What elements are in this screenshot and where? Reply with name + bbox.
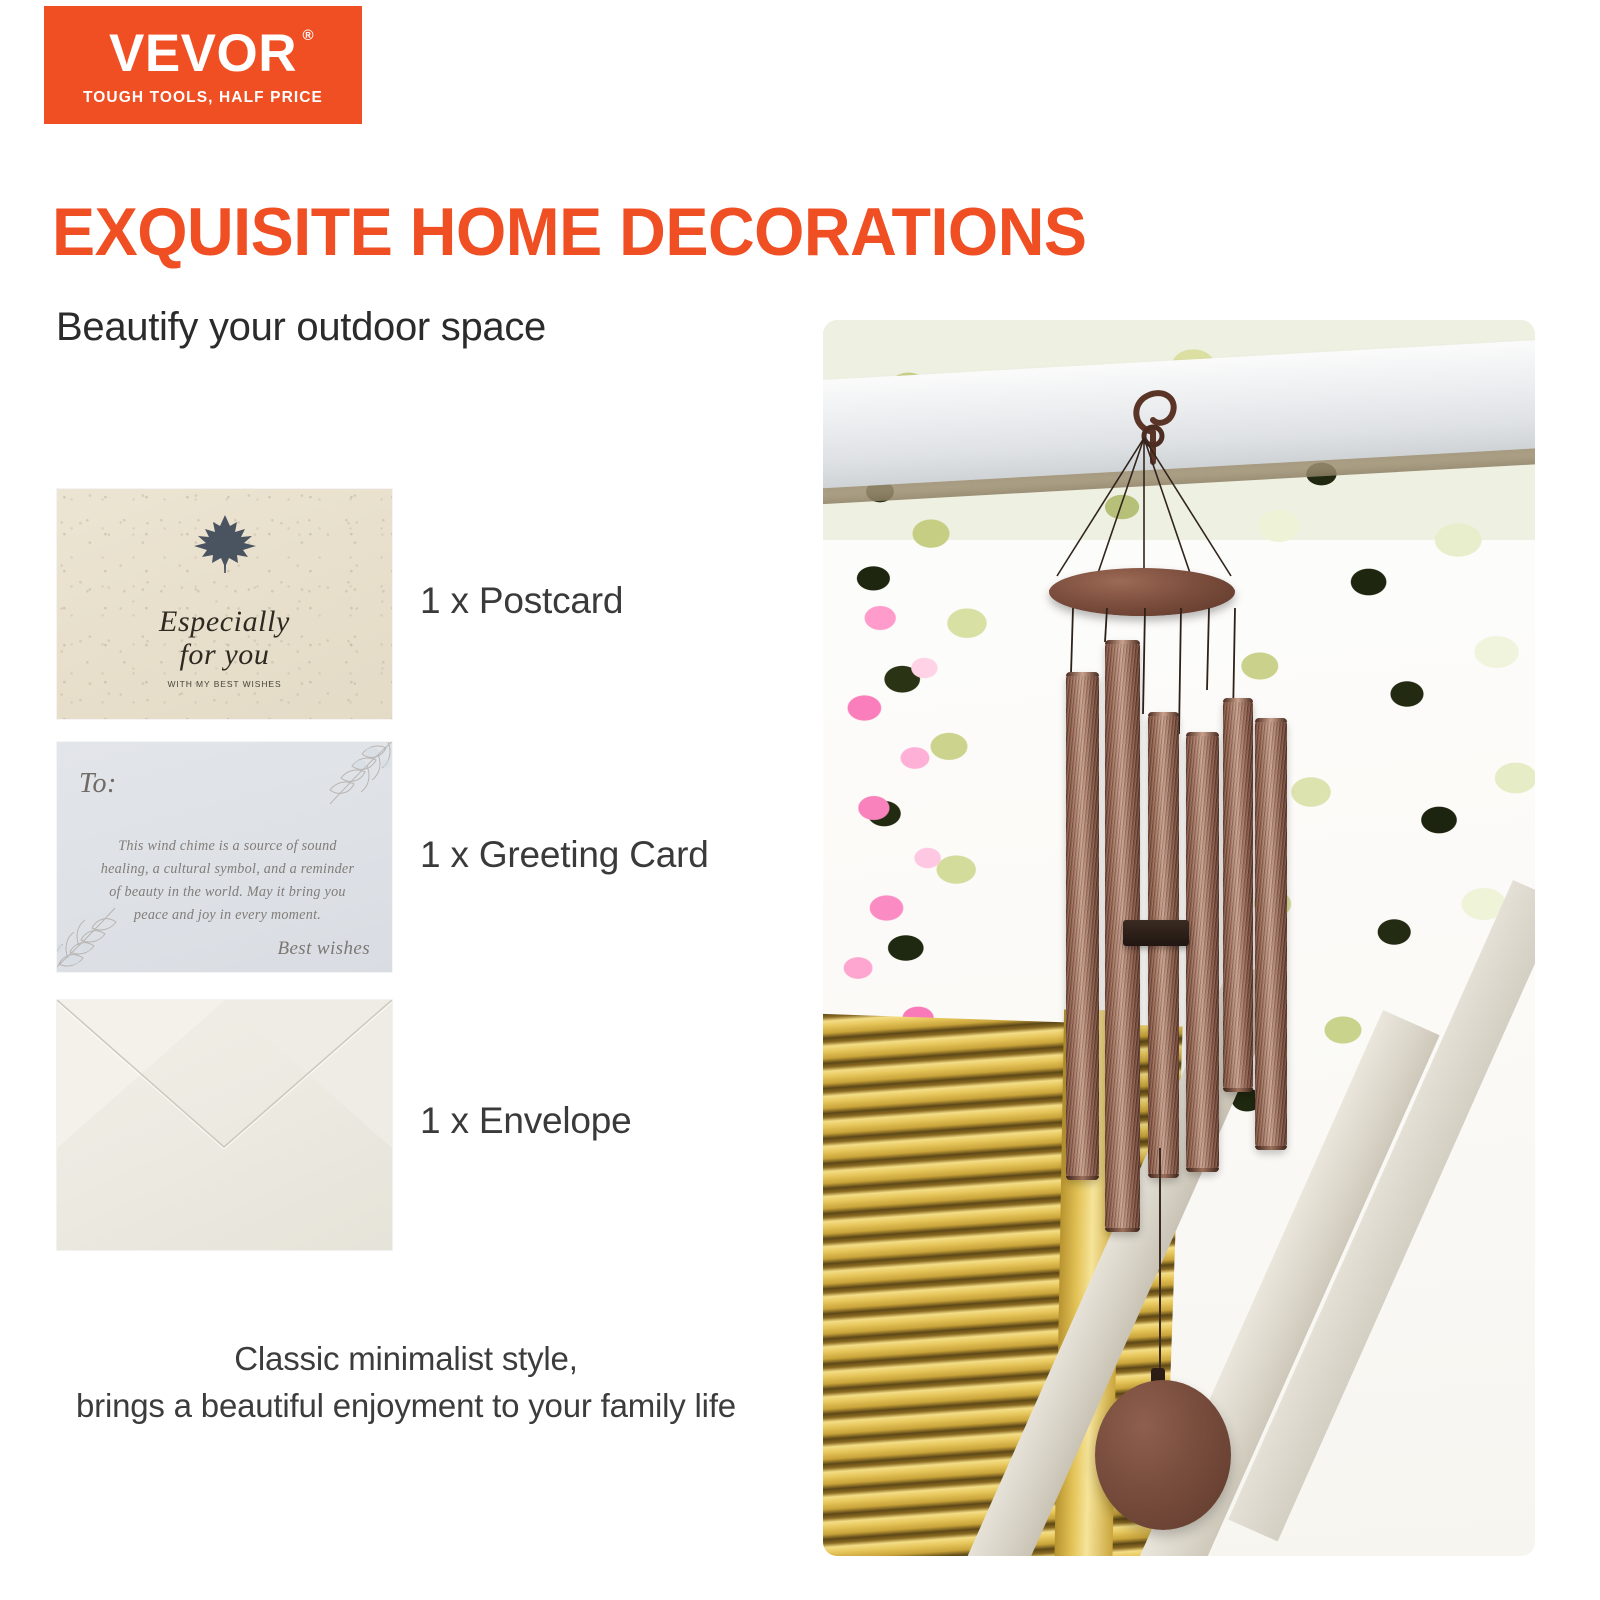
postcard-small-caps: WITH MY BEST WISHES xyxy=(57,679,392,689)
envelope-seam-icon xyxy=(57,1000,392,1250)
chime-tube-5 xyxy=(1223,698,1253,1092)
page-subheadline: Beautify your outdoor space xyxy=(56,305,546,350)
brand-wordmark: VEVOR® xyxy=(109,27,297,80)
brand-wordmark-text: VEVOR xyxy=(109,24,297,83)
greeting-card-image: To: This wind chime is a source of sound… xyxy=(57,742,392,972)
chime-tube-4 xyxy=(1186,732,1219,1172)
brand-tagline: TOUGH TOOLS, HALF PRICE xyxy=(83,89,323,107)
postcard-image: Especially for you WITH MY BEST WISHES xyxy=(57,489,392,719)
postcard-script: Especially for you xyxy=(57,607,392,670)
item-label-greeting-card: 1 x Greeting Card xyxy=(420,834,709,876)
vevor-logo: VEVOR® TOUGH TOOLS, HALF PRICE xyxy=(44,6,362,124)
page-headline: EXQUISITE HOME DECORATIONS xyxy=(52,198,1087,266)
product-photo xyxy=(823,320,1535,1556)
registered-trademark-icon: ® xyxy=(302,28,314,43)
postcard-script-line1: Especially xyxy=(159,605,290,638)
footer-caption-line2: brings a beautiful enjoyment to your fam… xyxy=(46,1383,766,1430)
greeting-card-to-label: To: xyxy=(79,768,117,800)
chime-tube-6 xyxy=(1255,718,1287,1150)
maple-leaf-icon xyxy=(192,513,258,575)
item-label-postcard: 1 x Postcard xyxy=(420,580,623,622)
wind-sail-disc xyxy=(1095,1380,1231,1530)
greeting-card-message: This wind chime is a source of sound hea… xyxy=(99,835,356,927)
item-label-envelope: 1 x Envelope xyxy=(420,1100,632,1142)
footer-caption-line1: Classic minimalist style, xyxy=(234,1340,577,1377)
chime-tube-1 xyxy=(1066,672,1099,1180)
footer-caption: Classic minimalist style, brings a beaut… xyxy=(46,1336,766,1430)
greeting-card-signoff: Best wishes xyxy=(277,938,370,960)
chime-suspension-strings xyxy=(1049,438,1239,580)
envelope-image xyxy=(57,1000,392,1250)
wooden-clapper xyxy=(1123,920,1189,946)
postcard-script-line2: for you xyxy=(57,640,392,671)
wind-sail-string xyxy=(1159,1148,1161,1388)
